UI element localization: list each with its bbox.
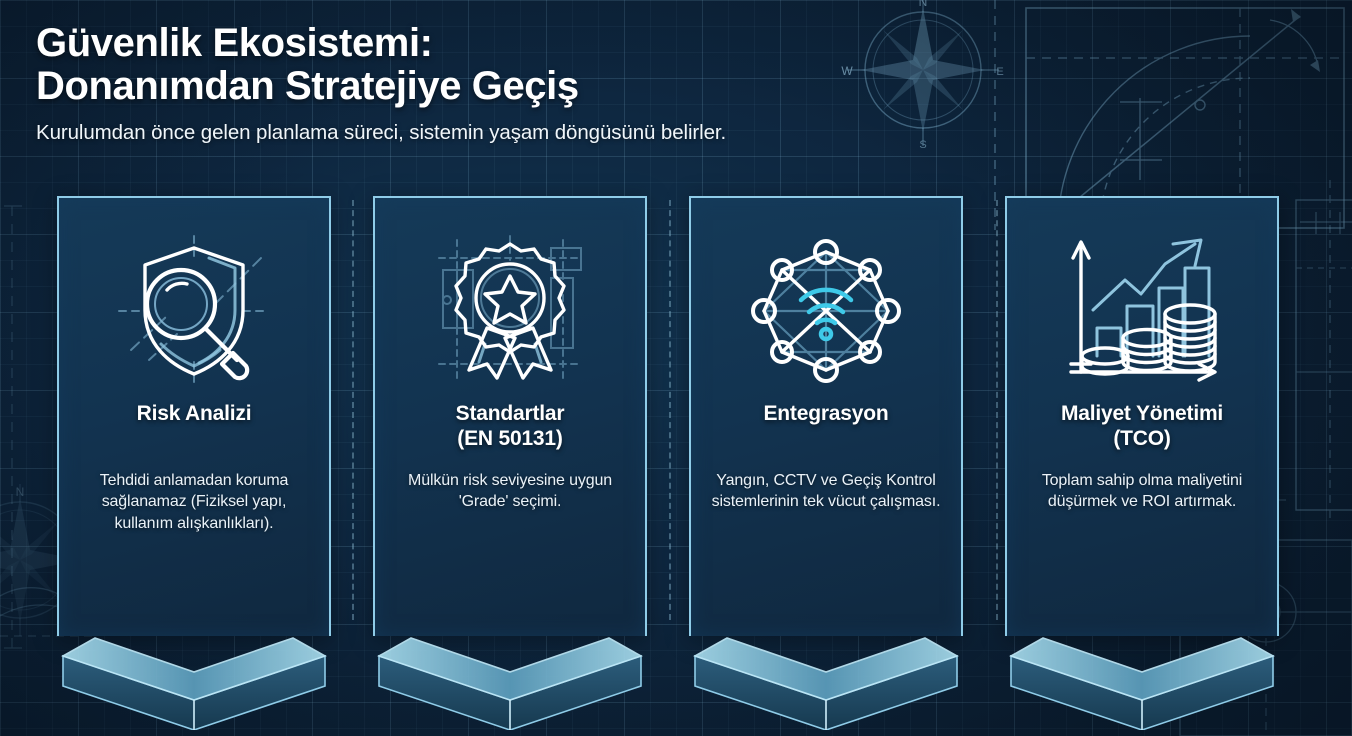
- card-title: Maliyet Yönetimi (TCO): [1061, 402, 1223, 454]
- card-title: Standartlar (EN 50131): [456, 402, 565, 454]
- card-description: Yangın, CCTV ve Geçiş Kontrol sistemleri…: [705, 470, 947, 513]
- cards-row: Risk Analizi Tehdidi anlamadan koruma sa…: [0, 196, 1352, 656]
- page-subtitle: Kurulumdan önce gelen planlama süreci, s…: [36, 121, 1076, 145]
- infographic-canvas: N W E S N: [0, 0, 1352, 736]
- card-entegrasyon[interactable]: Entegrasyon Yangın, CCTV ve Geçiş Kontro…: [689, 196, 963, 730]
- card-risk-analizi[interactable]: Risk Analizi Tehdidi anlamadan koruma sa…: [57, 196, 331, 730]
- card-title-text: Entegrasyon: [764, 402, 889, 427]
- card-base-chevron: [57, 634, 331, 730]
- network-nodes-wifi-icon: [705, 220, 947, 402]
- card-title-text: Standartlar (EN 50131): [456, 402, 565, 452]
- card-base-chevron: [373, 634, 647, 730]
- card-title-line-1: Maliyet Yönetimi: [1061, 402, 1223, 425]
- card-base-chevron: [689, 634, 963, 730]
- card-title-line-2: (TCO): [1113, 427, 1170, 450]
- page-title: Güvenlik Ekosistemi: Donanımdan Strateji…: [36, 22, 1076, 108]
- shield-magnifier-icon: [73, 220, 315, 402]
- growth-chart-coins-icon: [1021, 220, 1263, 402]
- card-base-chevron: [1005, 634, 1279, 730]
- card-title: Entegrasyon: [764, 402, 889, 454]
- page-title-line-2: Donanımdan Stratejiye Geçiş: [36, 65, 1076, 108]
- card-title-text: Maliyet Yönetimi (TCO): [1061, 402, 1223, 452]
- card-maliyet-yonetimi[interactable]: Maliyet Yönetimi (TCO) Toplam sahip olma…: [1005, 196, 1279, 730]
- card-description: Tehdidi anlamadan koruma sağlanamaz (Fiz…: [73, 470, 315, 534]
- card-title: Risk Analizi: [137, 402, 252, 454]
- page-title-line-1: Güvenlik Ekosistemi:: [36, 21, 433, 65]
- card-title-line-2: (EN 50131): [457, 427, 562, 450]
- header: Güvenlik Ekosistemi: Donanımdan Strateji…: [36, 22, 1076, 145]
- card-standartlar[interactable]: Standartlar (EN 50131) Mülkün risk seviy…: [373, 196, 647, 730]
- card-title-line-1: Standartlar: [456, 402, 565, 425]
- card-description: Toplam sahip olma maliyetini düşürmek ve…: [1021, 470, 1263, 513]
- card-description: Mülkün risk seviyesine uygun 'Grade' seç…: [389, 470, 631, 513]
- compass-label-n: N: [919, 0, 928, 9]
- award-ribbon-star-icon: [389, 220, 631, 402]
- card-title-text: Risk Analizi: [137, 402, 252, 427]
